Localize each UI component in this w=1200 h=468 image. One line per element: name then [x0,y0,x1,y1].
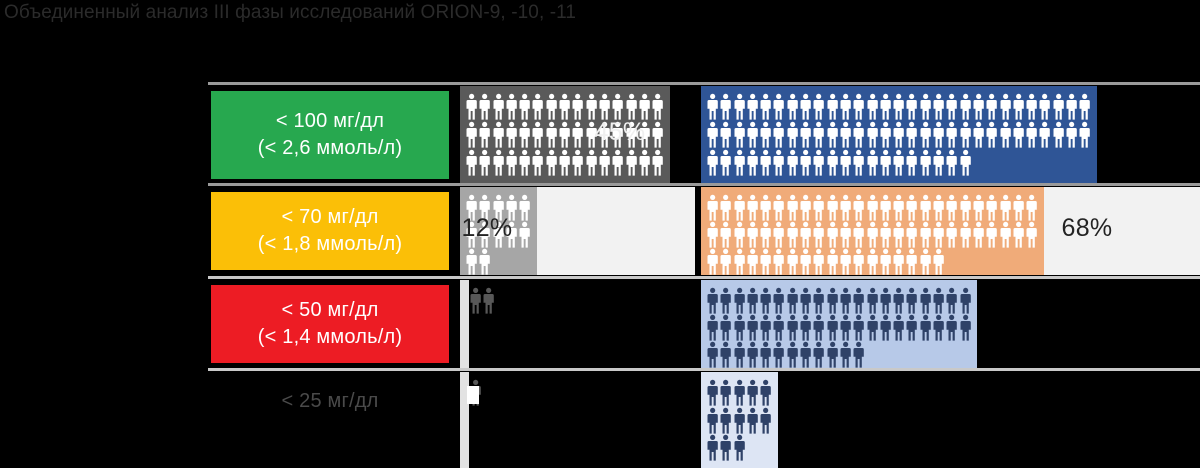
percent-label-left-row-lt-100: 45% [595,118,646,147]
person-icon [733,379,746,406]
person-icon [518,149,531,176]
person-icon [719,287,732,314]
person-icon [879,287,892,314]
person-icon [799,149,812,176]
person-icon [919,149,932,176]
person-icon [932,121,945,148]
person-icon [985,93,998,120]
person-icon [879,194,892,221]
person-icon [959,314,972,341]
person-icon [852,194,865,221]
person-icon [812,93,825,120]
person-icon [706,149,719,176]
person-icon [786,341,799,368]
person-icon [759,221,772,248]
person-icon [932,314,945,341]
person-icon [786,93,799,120]
person-icon [799,121,812,148]
person-icon [585,93,598,120]
person-icon [945,314,958,341]
category-label-line1: < 70 мг/дл [282,204,379,231]
person-icon [866,314,879,341]
person-icon [826,314,839,341]
category-label-row-lt-25: < 25 мг/дл [211,377,449,425]
person-icon [478,121,491,148]
person-icon [492,149,505,176]
person-icon [746,287,759,314]
person-icon [959,287,972,314]
person-icon [478,93,491,120]
person-icon [545,121,558,148]
pictogram-grid-right-row-lt-70 [706,194,1039,275]
person-icon [852,248,865,275]
person-icon [839,314,852,341]
person-icon [733,194,746,221]
person-icon [638,93,651,120]
person-icon [759,314,772,341]
person-icon [866,248,879,275]
person-icon [919,248,932,275]
person-icon [759,287,772,314]
person-icon [852,121,865,148]
person-icon [812,248,825,275]
person-icon [812,287,825,314]
person-icon [746,93,759,120]
person-icon [746,341,759,368]
person-icon [1078,121,1091,148]
person-icon [733,287,746,314]
person-icon [826,194,839,221]
person-icon [812,221,825,248]
person-icon [759,93,772,120]
person-icon [706,287,719,314]
person-icon [799,314,812,341]
person-icon [558,93,571,120]
person-icon [892,194,905,221]
person-icon [839,149,852,176]
person-icon [999,93,1012,120]
person-icon [812,194,825,221]
person-icon [892,287,905,314]
person-icon [985,194,998,221]
person-icon [999,194,1012,221]
person-icon [786,248,799,275]
person-icon [826,248,839,275]
row-divider [208,82,1200,85]
category-label-line1: < 100 мг/дл [276,108,384,135]
person-icon [985,121,998,148]
person-icon [611,149,624,176]
person-icon [799,221,812,248]
person-icon [879,221,892,248]
person-icon [1012,121,1025,148]
person-icon [733,341,746,368]
person-icon [999,121,1012,148]
person-icon [719,221,732,248]
person-icon [772,341,785,368]
person-icon [826,341,839,368]
person-icon [945,149,958,176]
person-icon [892,221,905,248]
person-icon [945,287,958,314]
person-icon [733,121,746,148]
person-icon [959,93,972,120]
person-icon [786,194,799,221]
person-icon [706,434,719,461]
person-icon [852,149,865,176]
person-icon [866,149,879,176]
person-icon [959,194,972,221]
person-icon [1052,93,1065,120]
pictogram-block-right-row-lt-25 [701,372,778,468]
person-icon [505,121,518,148]
person-icon [706,121,719,148]
person-icon [558,149,571,176]
person-icon [826,93,839,120]
person-icon [505,93,518,120]
person-icon [839,194,852,221]
person-icon [531,149,544,176]
person-icon [932,287,945,314]
pictogram-block-right-row-lt-70 [701,187,1044,275]
person-icon [786,221,799,248]
person-icon [905,93,918,120]
person-icon [571,93,584,120]
person-icon [866,221,879,248]
row-divider [208,368,1200,371]
person-icon [706,379,719,406]
person-icon [826,221,839,248]
person-icon [719,194,732,221]
person-icon [799,93,812,120]
person-icon [759,248,772,275]
person-icon [852,287,865,314]
person-icon [719,121,732,148]
person-icon [932,221,945,248]
person-icon [866,121,879,148]
person-icon [999,221,1012,248]
person-icon [1025,121,1038,148]
person-icon [759,194,772,221]
person-icon [839,93,852,120]
pictogram-grid-right-row-lt-25 [706,379,773,461]
person-icon [706,248,719,275]
pictogram-block-left-row-lt-50 [460,280,469,368]
category-label-row-lt-100: < 100 мг/дл(< 2,6 ммоль/л) [211,91,449,179]
person-icon [478,248,491,275]
person-icon [719,341,732,368]
person-icon [482,287,495,314]
person-icon [746,314,759,341]
category-label-line2: (< 1,4 ммоль/л) [258,324,402,351]
person-icon [1065,121,1078,148]
person-icon [465,248,478,275]
pictogram-chart: < 100 мг/дл(< 2,6 ммоль/л)45%< 70 мг/дл(… [0,0,1200,468]
person-icon [759,407,772,434]
person-icon [839,121,852,148]
person-icon [945,121,958,148]
person-icon [866,93,879,120]
person-icon [919,314,932,341]
person-icon [465,121,478,148]
person-icon [812,121,825,148]
person-icon [598,149,611,176]
person-icon [786,287,799,314]
person-icon [1012,221,1025,248]
pictogram-grid-left-row-lt-50 [469,287,536,314]
person-icon [719,379,732,406]
person-icon [1025,93,1038,120]
person-icon [919,93,932,120]
person-icon [772,149,785,176]
row-divider [208,276,1200,279]
person-icon [571,121,584,148]
person-icon [812,314,825,341]
person-icon [839,341,852,368]
person-icon [469,287,482,314]
person-icon [571,149,584,176]
person-icon [505,149,518,176]
person-icon [531,121,544,148]
person-icon [733,314,746,341]
person-icon [879,121,892,148]
person-icon [905,314,918,341]
person-icon [892,314,905,341]
person-icon [1012,93,1025,120]
person-icon [839,248,852,275]
person-icon [945,194,958,221]
person-icon [879,93,892,120]
person-icon [518,93,531,120]
person-icon [905,221,918,248]
person-icon [786,314,799,341]
person-icon [772,93,785,120]
person-icon [972,194,985,221]
person-icon [905,149,918,176]
person-icon [746,194,759,221]
person-icon [826,121,839,148]
pictogram-grid-right-row-lt-50 [706,287,972,368]
person-icon [733,434,746,461]
row-divider [208,183,1200,186]
person-icon [746,149,759,176]
person-icon [905,194,918,221]
person-icon [945,221,958,248]
person-icon [759,121,772,148]
person-icon [706,93,719,120]
person-icon [812,341,825,368]
person-icon [759,379,772,406]
person-icon [905,121,918,148]
person-icon [892,93,905,120]
person-icon [585,149,598,176]
category-label-row-lt-70: < 70 мг/дл(< 1,8 ммоль/л) [211,192,449,270]
person-icon [866,194,879,221]
percent-label-right-row-lt-70: 68% [1062,214,1113,243]
person-icon [465,149,478,176]
person-icon [1025,221,1038,248]
person-icon [719,248,732,275]
person-icon [1012,194,1025,221]
person-icon [879,149,892,176]
percent-label-left-row-lt-70: 12% [462,214,513,243]
person-icon [492,121,505,148]
person-icon [799,341,812,368]
category-label-line1: < 50 мг/дл [282,297,379,324]
person-icon [932,149,945,176]
person-icon [826,287,839,314]
person-icon [746,407,759,434]
person-icon [772,194,785,221]
person-icon [598,93,611,120]
person-icon [719,93,732,120]
person-icon [706,341,719,368]
person-icon [919,194,932,221]
person-icon [972,121,985,148]
person-icon [1052,121,1065,148]
person-icon [919,287,932,314]
person-icon [852,314,865,341]
person-icon [866,287,879,314]
person-icon [772,121,785,148]
person-icon [959,121,972,148]
person-icon [1038,121,1051,148]
person-icon [1025,194,1038,221]
person-icon [852,93,865,120]
person-icon [919,221,932,248]
person-icon [719,314,732,341]
person-icon [746,121,759,148]
person-icon [852,341,865,368]
person-icon [706,314,719,341]
person-icon [892,248,905,275]
person-icon [518,221,531,248]
person-icon [759,149,772,176]
person-icon [651,93,664,120]
person-icon [733,93,746,120]
person-icon [879,314,892,341]
person-icon [706,221,719,248]
person-icon [625,93,638,120]
person-icon [932,248,945,275]
person-icon [932,93,945,120]
person-icon [1065,93,1078,120]
category-label-line2: (< 1,8 ммоль/л) [258,231,402,258]
person-icon [892,121,905,148]
category-label-line1: < 25 мг/дл [282,388,379,415]
category-label-line2: (< 2,6 ммоль/л) [258,135,402,162]
person-icon [531,93,544,120]
person-icon [799,248,812,275]
person-icon [492,93,505,120]
person-icon [545,149,558,176]
person-icon [972,93,985,120]
person-icon [826,149,839,176]
person-icon [839,221,852,248]
person-icon [786,149,799,176]
person-icon [772,314,785,341]
person-icon [733,149,746,176]
pictogram-block-right-row-lt-50 [701,280,977,368]
person-icon [772,221,785,248]
person-icon [558,121,571,148]
person-icon [746,221,759,248]
person-icon [733,221,746,248]
category-label-row-lt-50: < 50 мг/дл(< 1,4 ммоль/л) [211,285,449,363]
person-icon [945,93,958,120]
person-icon [772,287,785,314]
person-icon [959,221,972,248]
pictogram-block-right-row-lt-100 [701,86,1097,183]
person-icon [932,194,945,221]
person-icon [905,248,918,275]
person-icon [746,248,759,275]
person-icon [786,121,799,148]
person-icon [1038,93,1051,120]
person-icon [611,93,624,120]
person-icon [905,287,918,314]
pictogram-grid-right-row-lt-100 [706,93,1092,176]
person-icon [651,149,664,176]
person-icon [706,407,719,434]
person-icon [478,149,491,176]
person-icon [465,93,478,120]
person-icon [625,149,638,176]
person-icon [719,149,732,176]
person-icon [919,121,932,148]
person-icon [638,149,651,176]
person-icon [746,379,759,406]
person-icon [719,407,732,434]
person-icon [545,93,558,120]
person-icon [733,407,746,434]
person-icon [839,287,852,314]
person-icon [719,434,732,461]
person-icon [733,248,746,275]
person-icon [879,248,892,275]
person-icon [972,221,985,248]
person-icon [799,287,812,314]
person-icon [706,194,719,221]
person-icon [799,194,812,221]
person-icon [812,149,825,176]
person-icon [772,248,785,275]
person-icon [1078,93,1091,120]
person-icon [651,121,664,148]
highlight-square [467,386,479,404]
person-icon [518,121,531,148]
person-icon [985,221,998,248]
person-icon [852,221,865,248]
person-icon [518,194,531,221]
person-icon [892,149,905,176]
person-icon [959,149,972,176]
person-icon [759,341,772,368]
